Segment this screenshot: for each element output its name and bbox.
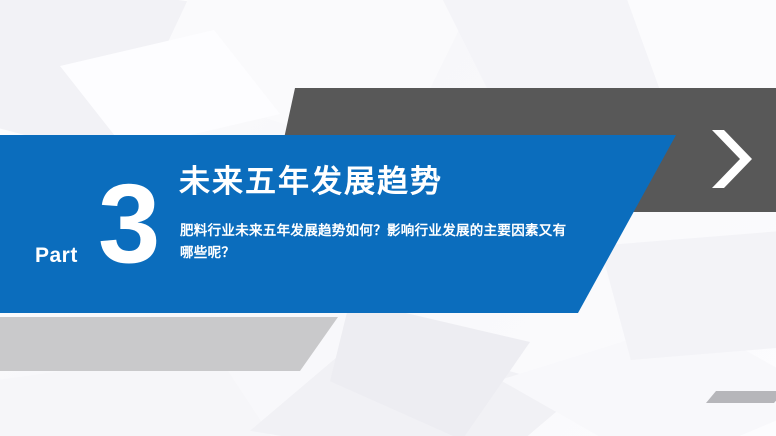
presentation-slide: Part 3 未来五年发展趋势 肥料行业未来五年发展趋势如何？影响行业发展的主要… (0, 0, 776, 436)
background-polygon (500, 320, 776, 436)
gray-accent-sliver (706, 391, 776, 403)
background-polygon (330, 300, 530, 436)
part-number: 3 (98, 168, 158, 280)
page-subtitle: 肥料行业未来五年发展趋势如何？影响行业发展的主要因素又有哪些呢？ (180, 220, 570, 263)
chevron-right-icon (706, 128, 758, 190)
page-title: 未来五年发展趋势 (179, 163, 443, 200)
background-polygon (60, 30, 280, 150)
background-polygon (600, 230, 776, 360)
part-label: Part (35, 245, 78, 266)
